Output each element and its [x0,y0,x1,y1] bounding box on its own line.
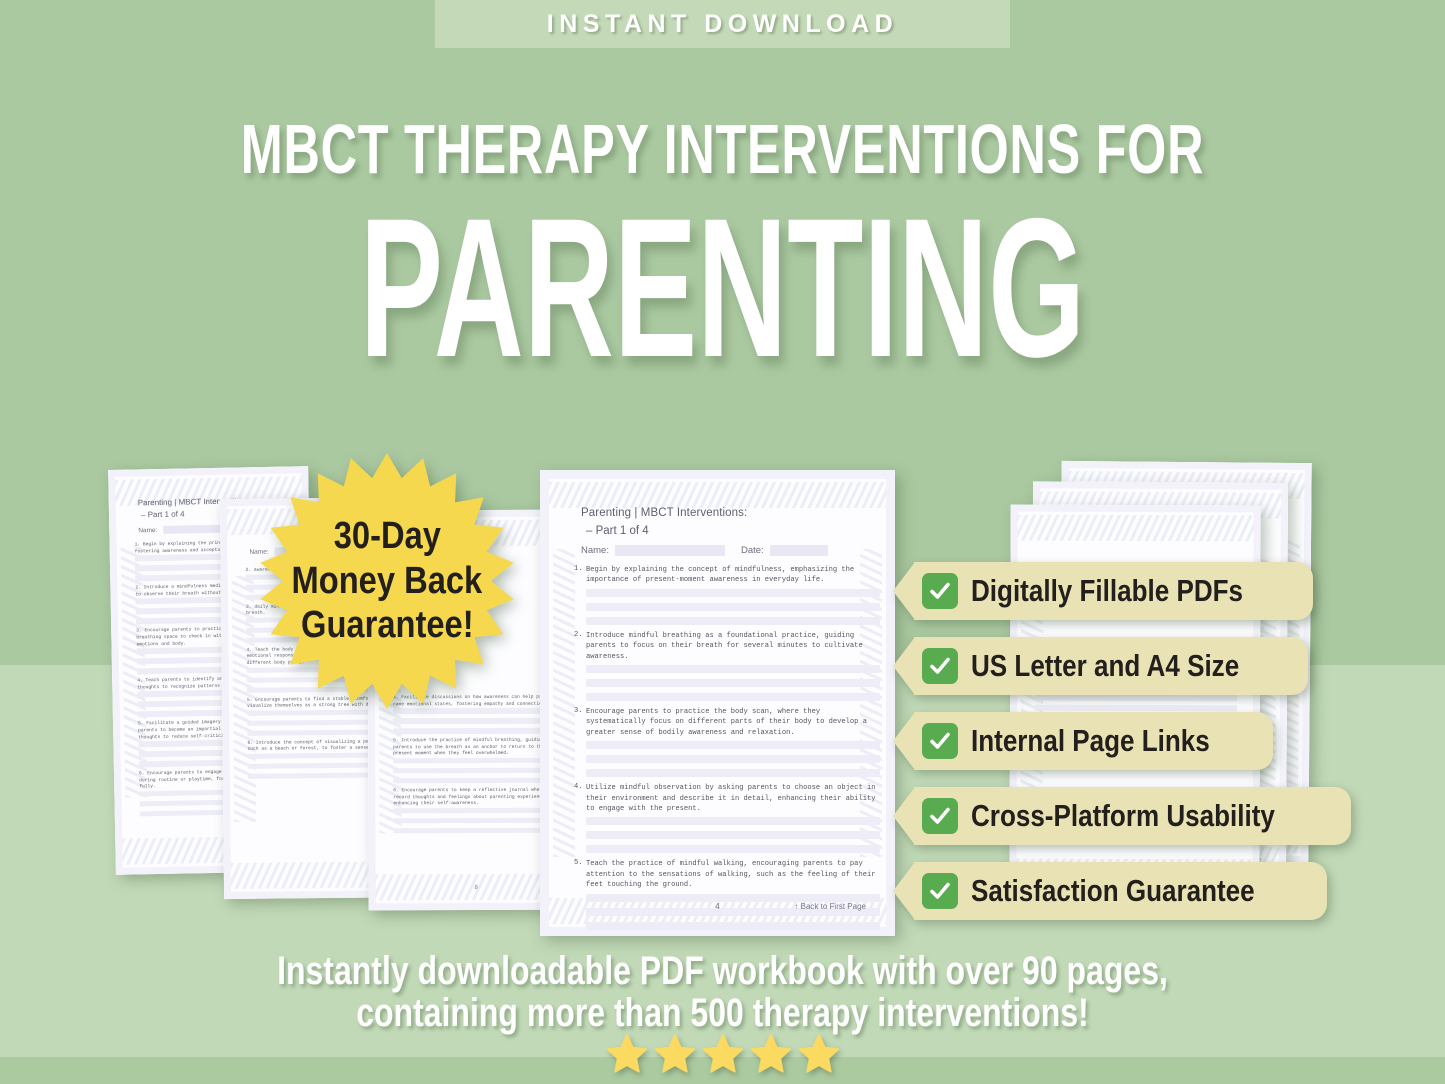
main-item-number: 4. [574,783,583,791]
main-item-list: 1.Begin by explaining the concept of min… [575,565,880,936]
main-back-link[interactable]: ↑ Back to First Page [794,902,866,911]
doc3-item-list: 4. Facilitate discussions on how awarene… [393,695,560,838]
ornament-top [549,482,886,508]
star-icon [797,1032,841,1076]
writing-line[interactable] [1035,705,1237,711]
badge-pointer-icon [893,787,915,845]
writing-line[interactable] [586,831,880,839]
list-item-text: 5. Introduce the practice of mindful bre… [393,738,560,758]
writing-line[interactable] [393,827,560,833]
tagline-line-2: containing more than 500 therapy interve… [145,992,1301,1034]
feature-label-3: Cross-Platform Usability [971,798,1275,834]
check-icon [922,723,958,759]
main-name-label: Name: [581,545,609,556]
writing-line[interactable] [393,728,560,734]
writing-lines[interactable] [393,708,560,734]
badge-pointer-icon [893,562,915,620]
writing-line[interactable] [586,817,880,825]
check-icon [922,573,958,609]
doc1-subtitle: – Part 1 of 4 [141,509,185,519]
list-item: 5. Introduce the practice of mindful bre… [393,738,560,784]
guarantee-badge-text: 30-Day Money Back Guarantee! [258,452,516,710]
main-date-label: Date: [741,545,764,556]
writing-line[interactable] [393,807,560,813]
feature-label-2: Internal Page Links [971,723,1210,759]
feature-label-0: Digitally Fillable PDFs [971,573,1243,609]
list-item-text: 6. Encourage parents to keep a reflectiv… [393,788,560,808]
writing-line[interactable] [586,665,880,673]
main-name-input[interactable] [615,545,725,556]
writing-line[interactable] [586,845,880,853]
star-icon [605,1032,649,1076]
star-icon [653,1032,697,1076]
feature-label-4: Satisfaction Guarantee [971,873,1255,909]
main-item-writing-lines[interactable] [575,665,880,701]
doc1-name-label: Name: [138,527,157,534]
writing-line[interactable] [586,589,880,597]
main-item-writing-lines[interactable] [575,741,880,777]
main-doc-fields: Name: Date: [581,545,871,556]
writing-line[interactable] [586,894,880,902]
writing-line[interactable] [586,693,880,701]
writing-line[interactable] [586,679,880,687]
subtitle-heading: MBCT THERAPY INTERVENTIONS FOR [202,112,1242,186]
main-item: 3.Encourage parents to practice the body… [575,707,880,777]
feature-badge-3[interactable]: Cross-Platform Usability [893,787,1351,845]
writing-line[interactable] [586,769,880,777]
feature-badge-0[interactable]: Digitally Fillable PDFs [893,562,1313,620]
writing-line[interactable] [586,603,880,611]
writing-line[interactable] [586,922,880,930]
ornament-left [553,549,575,857]
instant-download-banner: INSTANT DOWNLOAD [435,0,1010,48]
writing-line[interactable] [393,778,560,784]
check-icon [922,798,958,834]
main-item: 2.Introduce mindful breathing as a found… [575,631,880,701]
main-item-text: Encourage parents to practice the body s… [575,707,880,738]
main-doc-title: Parenting | MBCT Interventions: [581,507,747,519]
check-icon [922,648,958,684]
star-icon [701,1032,745,1076]
main-item-number: 2. [574,631,583,639]
check-icon [922,873,958,909]
document-preview-main: Parenting | MBCT Interventions: – Part 1… [540,470,895,936]
main-item-writing-lines[interactable] [575,894,880,930]
main-item: 1.Begin by explaining the concept of min… [575,565,880,625]
badge-pointer-icon [893,712,915,770]
main-item-number: 5. [574,859,583,867]
main-item-text: Begin by explaining the concept of mindf… [575,565,880,586]
writing-line[interactable] [393,817,560,823]
writing-line[interactable] [393,718,560,724]
main-item-text: Teach the practice of mindful walking, e… [575,859,880,890]
instant-download-label: INSTANT DOWNLOAD [547,10,898,39]
poster-canvas: INSTANT DOWNLOAD MBCT THERAPY INTERVENTI… [0,0,1445,1084]
guarantee-line-1: 30-Day [333,517,440,556]
main-item-number: 1. [574,565,583,573]
star-rating [0,1030,1445,1078]
main-item: 4.Utilize mindful observation by asking … [575,783,880,853]
star-icon [749,1032,793,1076]
main-doc-subtitle: – Part 1 of 4 [586,525,649,537]
main-item-writing-lines[interactable] [575,817,880,853]
money-back-guarantee-badge: 30-Day Money Back Guarantee! [258,452,516,710]
feature-badge-1[interactable]: US Letter and A4 Size [893,637,1308,695]
list-item: 6. Encourage parents to keep a reflectiv… [393,788,560,834]
badge-pointer-icon [893,862,915,920]
main-item-writing-lines[interactable] [575,589,880,625]
main-item-number: 3. [574,707,583,715]
feature-badge-2[interactable]: Internal Page Links [893,712,1273,770]
feature-label-1: US Letter and A4 Size [971,648,1239,684]
main-item-text: Utilize mindful observation by asking pa… [575,783,880,814]
writing-lines[interactable] [393,807,560,833]
page-title: PARENTING [267,188,1177,388]
writing-line[interactable] [586,741,880,749]
tagline: Instantly downloadable PDF workbook with… [0,950,1445,1034]
main-doc-footer: 4 ↑ Back to First Page [569,902,866,911]
guarantee-line-3: Guarantee! [301,606,474,645]
main-item: 5.Teach the practice of mindful walking,… [575,859,880,929]
main-item-text: Introduce mindful breathing as a foundat… [575,631,880,662]
writing-line[interactable] [1035,695,1237,701]
badge-pointer-icon [893,637,915,695]
feature-badge-4[interactable]: Satisfaction Guarantee [893,862,1327,920]
ornament-top [1018,515,1254,542]
writing-line[interactable] [393,768,560,774]
writing-lines[interactable] [393,758,560,784]
main-date-input[interactable] [770,545,828,556]
writing-line[interactable] [393,758,560,764]
writing-line[interactable] [586,755,880,763]
guarantee-line-2: Money Back [292,562,483,601]
writing-line[interactable] [586,617,880,625]
tagline-line-1: Instantly downloadable PDF workbook with… [145,950,1301,992]
